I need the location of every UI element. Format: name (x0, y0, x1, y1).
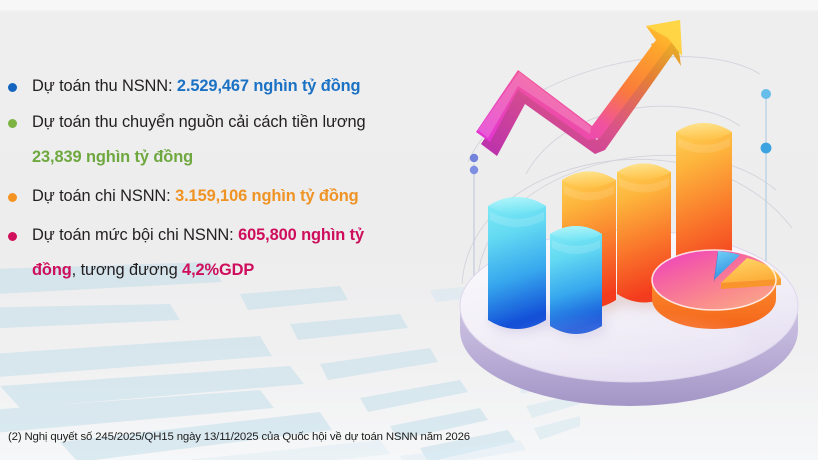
marker-dot-right-lower (761, 143, 772, 154)
marker-dot-left-upper (470, 154, 478, 162)
marker-dots-left (470, 154, 478, 276)
deficit-gdp-value: 4,2%GDP (182, 261, 254, 279)
bullet-dot-deficit (8, 232, 17, 241)
bullet-dot-salary-reform (8, 119, 17, 128)
deficit-label: Dự toán mức bội chi NSNN: (32, 226, 238, 244)
deficit-value-cont: đồng (32, 261, 72, 279)
list-item-deficit: Dự toán mức bội chi NSNN: 605,800 nghìn … (0, 223, 450, 283)
revenue-value: 2.529,467 nghìn tỷ đồng (177, 77, 361, 95)
salary-reform-label: Dự toán thu chuyển nguồn cải cách tiền l… (32, 113, 366, 131)
bar-1 (488, 197, 546, 329)
deficit-equivalent-label: , tương đương (72, 261, 182, 279)
list-item-expenditure: Dự toán chi NSNN: 3.159,106 nghìn tỷ đồn… (0, 184, 450, 209)
pie-chart (652, 250, 781, 329)
revenue-label: Dự toán thu NSNN: (32, 77, 177, 95)
budget-figures-list: Dự toán thu NSNN: 2.529,467 nghìn tỷ đồn… (0, 74, 450, 294)
bullet-dot-revenue (8, 83, 17, 92)
list-item-salary-reform: Dự toán thu chuyển nguồn cải cách tiền l… (0, 110, 450, 170)
revenue-line: Dự toán thu NSNN: 2.529,467 nghìn tỷ đồn… (32, 74, 450, 99)
marker-dot-left-lower (470, 166, 478, 174)
bullet-dot-expenditure (8, 193, 17, 202)
slide-canvas: Dự toán thu NSNN: 2.529,467 nghìn tỷ đồn… (0, 0, 818, 460)
bar-2 (550, 226, 602, 334)
expenditure-value: 3.159,106 nghìn tỷ đồng (175, 187, 359, 205)
deficit-line: Dự toán mức bội chi NSNN: 605,800 nghìn … (32, 223, 450, 248)
footnote-source: (2) Nghị quyết số 245/2025/QH15 ngày 13/… (8, 431, 470, 443)
growth-arrow (476, 20, 682, 156)
deficit-value: 605,800 nghìn tỷ (238, 226, 364, 244)
marker-dot-right-upper (761, 89, 771, 99)
deficit-line-2: đồng, tương đương 4,2%GDP (32, 258, 450, 283)
salary-reform-line: Dự toán thu chuyển nguồn cải cách tiền l… (32, 110, 450, 135)
list-item-revenue: Dự toán thu NSNN: 2.529,467 nghìn tỷ đồn… (0, 74, 450, 99)
expenditure-label: Dự toán chi NSNN: (32, 187, 175, 205)
statistics-3d-illustration (440, 14, 818, 418)
salary-reform-value: 23,839 nghìn tỷ đồng (32, 145, 450, 170)
expenditure-line: Dự toán chi NSNN: 3.159,106 nghìn tỷ đồn… (32, 184, 450, 209)
